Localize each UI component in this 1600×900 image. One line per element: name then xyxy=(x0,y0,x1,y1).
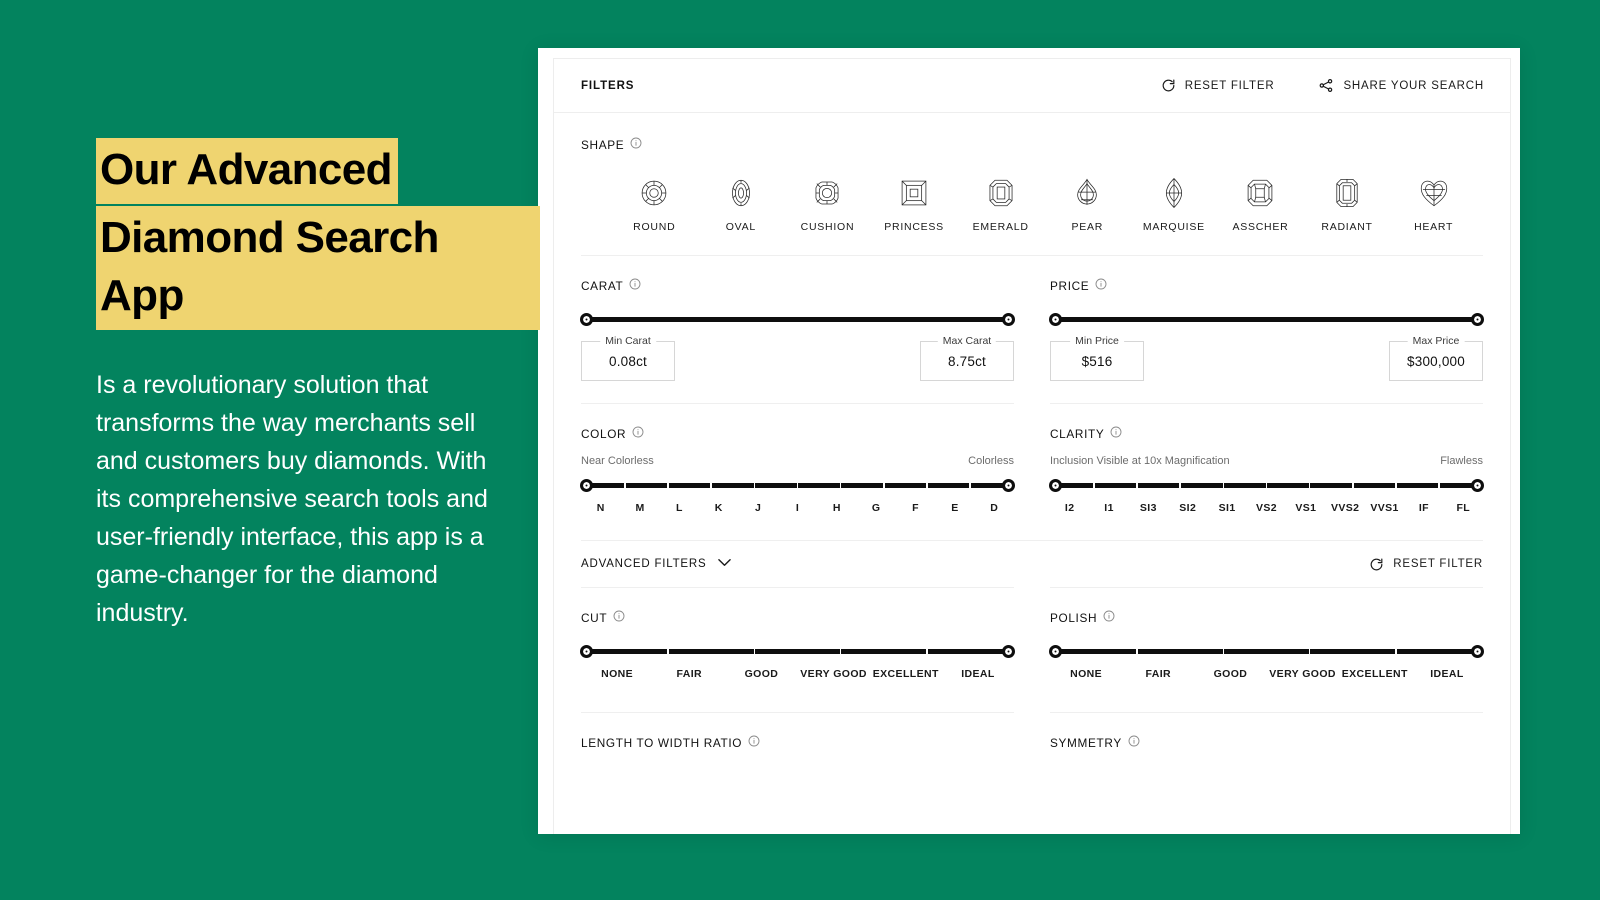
color-range-slider[interactable] xyxy=(581,479,1014,491)
min-price-label: Min Price xyxy=(1070,335,1124,347)
marketing-panel: Our Advanced Diamond Search App Is a rev… xyxy=(0,0,540,900)
shape-option-label: EMERALD xyxy=(973,221,1029,233)
ratio-symmetry-grid: LENGTH TO WIDTH RATIO SYMMETRY xyxy=(554,713,1510,750)
shape-option-label: ASSCHER xyxy=(1232,221,1288,233)
min-price-value: $516 xyxy=(1082,354,1113,369)
clarity-scale-item: I2 xyxy=(1050,502,1089,514)
clarity-slider-thumb-max[interactable] xyxy=(1471,479,1484,492)
radiant-diamond-icon xyxy=(1330,176,1364,210)
max-carat-value: 8.75ct xyxy=(948,354,986,369)
shape-option-label: MARQUISE xyxy=(1143,221,1205,233)
min-carat-label: Min Carat xyxy=(600,335,656,347)
info-icon[interactable] xyxy=(630,137,642,152)
color-section: COLOR Near Colorless Colorless N M xyxy=(581,404,1014,514)
cut-scale-item: EXCELLENT xyxy=(870,668,942,680)
cut-scale-labels: NONE FAIR GOOD VERY GOOD EXCELLENT IDEAL xyxy=(581,668,1014,680)
shape-option-label: RADIANT xyxy=(1321,221,1372,233)
polish-range-slider[interactable] xyxy=(1050,645,1483,657)
heart-diamond-icon xyxy=(1417,176,1451,210)
advanced-filters-toggle[interactable]: ADVANCED FILTERS xyxy=(581,558,731,570)
shape-option-oval[interactable]: OVAL xyxy=(698,176,785,233)
shape-option-cushion[interactable]: CUSHION xyxy=(784,176,871,233)
asscher-diamond-icon xyxy=(1243,176,1277,210)
symmetry-label-text: SYMMETRY xyxy=(1050,736,1122,750)
info-icon[interactable] xyxy=(632,426,644,441)
slider-track xyxy=(581,483,1014,488)
polish-slider-thumb-max[interactable] xyxy=(1471,645,1484,658)
color-slider-thumb-min[interactable] xyxy=(580,479,593,492)
max-price-value: $300,000 xyxy=(1407,354,1465,369)
info-icon[interactable] xyxy=(1128,735,1140,750)
clarity-scale-item: VS2 xyxy=(1247,502,1286,514)
color-scale-item: I xyxy=(778,502,817,514)
info-icon[interactable] xyxy=(629,278,641,293)
clarity-scale-item: VVS1 xyxy=(1365,502,1404,514)
filters-panel: FILTERS RESET FILTER xyxy=(553,58,1511,834)
headline-highlight-1: Our Advanced xyxy=(96,138,398,204)
header-actions: RESET FILTER SHARE YOUR SEARCH xyxy=(1161,78,1484,93)
page-title: Our Advanced Diamond Search App xyxy=(96,138,540,330)
color-scale-item: D xyxy=(975,502,1014,514)
share-search-button[interactable]: SHARE YOUR SEARCH xyxy=(1318,78,1484,93)
shape-option-asscher[interactable]: ASSCHER xyxy=(1217,176,1304,233)
diamond-search-app-card: FILTERS RESET FILTER xyxy=(538,48,1520,834)
info-icon[interactable] xyxy=(1103,610,1115,625)
color-scale-item: E xyxy=(935,502,974,514)
shape-option-round[interactable]: ROUND xyxy=(611,176,698,233)
price-section: PRICE Min Price $516 Max Price $300,000 xyxy=(1050,256,1483,381)
color-scale-item: F xyxy=(896,502,935,514)
carat-section-label: CARAT xyxy=(581,278,1014,293)
slider-track xyxy=(1050,649,1483,654)
marquise-diamond-icon xyxy=(1157,176,1191,210)
advanced-reset-filter-label: RESET FILTER xyxy=(1393,558,1483,570)
color-right-hint: Colorless xyxy=(968,455,1014,467)
length-to-width-label-text: LENGTH TO WIDTH RATIO xyxy=(581,736,742,750)
headline-line-1: Our Advanced xyxy=(96,138,540,204)
cut-slider-thumb-min[interactable] xyxy=(580,645,593,658)
color-left-hint: Near Colorless xyxy=(581,455,654,467)
info-icon[interactable] xyxy=(613,610,625,625)
price-slider-thumb-min[interactable] xyxy=(1049,313,1062,326)
carat-slider-thumb-max[interactable] xyxy=(1002,313,1015,326)
color-section-label: COLOR xyxy=(581,426,1014,441)
max-carat-field[interactable]: Max Carat 8.75ct xyxy=(920,341,1014,381)
cut-range-slider[interactable] xyxy=(581,645,1014,657)
polish-scale-item: EXCELLENT xyxy=(1339,668,1411,680)
reset-filter-label: RESET FILTER xyxy=(1185,80,1275,92)
advanced-filters-label: ADVANCED FILTERS xyxy=(581,558,706,570)
headline-highlight-2: Diamond Search App xyxy=(96,206,540,330)
color-scale-item: G xyxy=(857,502,896,514)
max-carat-label: Max Carat xyxy=(938,335,996,347)
oval-diamond-icon xyxy=(724,176,758,210)
cut-scale-item: NONE xyxy=(581,668,653,680)
shape-option-label: HEART xyxy=(1414,221,1453,233)
polish-slider-thumb-min[interactable] xyxy=(1049,645,1062,658)
shape-options-row: ROUND OVAL xyxy=(581,176,1483,233)
max-price-field[interactable]: Max Price $300,000 xyxy=(1389,341,1483,381)
info-icon[interactable] xyxy=(748,735,760,750)
slider-track xyxy=(1050,483,1483,488)
price-label-text: PRICE xyxy=(1050,279,1089,293)
clarity-slider-thumb-min[interactable] xyxy=(1049,479,1062,492)
polish-label-text: POLISH xyxy=(1050,611,1097,625)
polish-section: POLISH NONE FAIR GOOD VERY GOOD EXCELLEN… xyxy=(1050,588,1483,680)
length-to-width-label: LENGTH TO WIDTH RATIO xyxy=(581,735,1014,750)
share-icon xyxy=(1318,78,1334,93)
clarity-scale-item: SI1 xyxy=(1207,502,1246,514)
info-icon[interactable] xyxy=(1095,278,1107,293)
clarity-range-slider[interactable] xyxy=(1050,479,1483,491)
color-scale-item: H xyxy=(817,502,856,514)
color-scale-item: K xyxy=(699,502,738,514)
shape-option-princess[interactable]: PRINCESS xyxy=(871,176,958,233)
clarity-scale-item: SI2 xyxy=(1168,502,1207,514)
clarity-scale-item: SI3 xyxy=(1129,502,1168,514)
polish-scale-item: GOOD xyxy=(1194,668,1266,680)
reset-filter-button[interactable]: RESET FILTER xyxy=(1161,78,1275,93)
clarity-scale-item: VVS2 xyxy=(1326,502,1365,514)
clarity-scale-item: IF xyxy=(1404,502,1443,514)
share-search-label: SHARE YOUR SEARCH xyxy=(1343,80,1484,92)
price-minmax-row: Min Price $516 Max Price $300,000 xyxy=(1050,341,1483,381)
chevron-down-icon xyxy=(718,558,731,570)
polish-section-label: POLISH xyxy=(1050,610,1483,625)
carat-minmax-row: Min Carat 0.08ct Max Carat 8.75ct xyxy=(581,341,1014,381)
max-price-label: Max Price xyxy=(1408,335,1465,347)
carat-slider-thumb-min[interactable] xyxy=(580,313,593,326)
polish-scale-item: VERY GOOD xyxy=(1267,668,1339,680)
color-slider-thumb-max[interactable] xyxy=(1002,479,1015,492)
symmetry-section: SYMMETRY xyxy=(1050,735,1483,750)
shape-label-text: SHAPE xyxy=(581,138,624,152)
min-carat-field[interactable]: Min Carat 0.08ct xyxy=(581,341,675,381)
advanced-filters-bar: ADVANCED FILTERS RESET FILTER xyxy=(554,541,1510,587)
filters-header: FILTERS RESET FILTER xyxy=(554,59,1510,113)
shape-option-label: PEAR xyxy=(1071,221,1103,233)
shape-option-label: ROUND xyxy=(633,221,675,233)
cut-polish-grid: CUT NONE FAIR GOOD VERY GOOD EXCELLENT xyxy=(554,588,1510,680)
clarity-scale-item: VS1 xyxy=(1286,502,1325,514)
divider-right xyxy=(1050,712,1483,713)
carat-range-slider[interactable] xyxy=(581,313,1014,325)
clarity-section-label: CLARITY xyxy=(1050,426,1483,441)
refresh-icon xyxy=(1369,557,1384,572)
filters-title: FILTERS xyxy=(581,80,634,92)
clarity-label-text: CLARITY xyxy=(1050,427,1104,441)
polish-scale-item: FAIR xyxy=(1122,668,1194,680)
shape-option-heart[interactable]: HEART xyxy=(1390,176,1477,233)
pear-diamond-icon xyxy=(1070,176,1104,210)
marketing-body-text: Is a revolutionary solution that transfo… xyxy=(96,366,496,632)
cut-scale-item: FAIR xyxy=(653,668,725,680)
color-scale-item: L xyxy=(660,502,699,514)
clarity-left-hint: Inclusion Visible at 10x Magnification xyxy=(1050,455,1230,467)
color-scale-labels: N M L K J I H G F E D xyxy=(581,502,1014,514)
color-scale-item: M xyxy=(620,502,659,514)
princess-diamond-icon xyxy=(897,176,931,210)
cut-section-label: CUT xyxy=(581,610,1014,625)
clarity-scale-labels: I2 I1 SI3 SI2 SI1 VS2 VS1 VVS2 VVS1 IF F… xyxy=(1050,502,1483,514)
shape-option-label: CUSHION xyxy=(801,221,855,233)
length-to-width-section: LENGTH TO WIDTH RATIO xyxy=(581,735,1014,750)
color-hints: Near Colorless Colorless xyxy=(581,455,1014,467)
polish-scale-item: NONE xyxy=(1050,668,1122,680)
min-carat-value: 0.08ct xyxy=(609,354,647,369)
headline-line-2: Diamond Search App xyxy=(96,204,540,330)
slider-track xyxy=(581,317,1014,322)
slider-track xyxy=(1050,317,1483,322)
shape-option-marquise[interactable]: MARQUISE xyxy=(1131,176,1218,233)
carat-price-grid: CARAT Min Carat 0.08ct Max Carat 8.75ct xyxy=(554,256,1510,381)
clarity-hints: Inclusion Visible at 10x Magnification F… xyxy=(1050,455,1483,467)
cut-label-text: CUT xyxy=(581,611,607,625)
round-diamond-icon xyxy=(637,176,671,210)
cut-scale-item: GOOD xyxy=(725,668,797,680)
shape-option-pear[interactable]: PEAR xyxy=(1044,176,1131,233)
divider-left xyxy=(581,712,1014,713)
emerald-diamond-icon xyxy=(984,176,1018,210)
min-price-field[interactable]: Min Price $516 xyxy=(1050,341,1144,381)
info-icon[interactable] xyxy=(1110,426,1122,441)
shape-section-label: SHAPE xyxy=(581,137,1483,152)
clarity-section: CLARITY Inclusion Visible at 10x Magnifi… xyxy=(1050,404,1483,514)
price-range-slider[interactable] xyxy=(1050,313,1483,325)
polish-scale-item: IDEAL xyxy=(1411,668,1483,680)
symmetry-label: SYMMETRY xyxy=(1050,735,1483,750)
cut-slider-thumb-max[interactable] xyxy=(1002,645,1015,658)
clarity-right-hint: Flawless xyxy=(1440,455,1483,467)
slider-track xyxy=(581,649,1014,654)
cut-scale-item: VERY GOOD xyxy=(798,668,870,680)
color-scale-item: N xyxy=(581,502,620,514)
shape-option-label: OVAL xyxy=(726,221,756,233)
carat-label-text: CARAT xyxy=(581,279,623,293)
advanced-reset-filter-button[interactable]: RESET FILTER xyxy=(1369,557,1483,572)
carat-section: CARAT Min Carat 0.08ct Max Carat 8.75ct xyxy=(581,256,1014,381)
polish-scale-labels: NONE FAIR GOOD VERY GOOD EXCELLENT IDEAL xyxy=(1050,668,1483,680)
refresh-icon xyxy=(1161,78,1176,93)
clarity-scale-item: FL xyxy=(1444,502,1483,514)
color-label-text: COLOR xyxy=(581,427,626,441)
color-clarity-grid: COLOR Near Colorless Colorless N M xyxy=(554,404,1510,514)
clarity-scale-item: I1 xyxy=(1089,502,1128,514)
price-section-label: PRICE xyxy=(1050,278,1483,293)
price-slider-thumb-max[interactable] xyxy=(1471,313,1484,326)
cut-section: CUT NONE FAIR GOOD VERY GOOD EXCELLENT xyxy=(581,588,1014,680)
shape-option-emerald[interactable]: EMERALD xyxy=(957,176,1044,233)
cushion-diamond-icon xyxy=(810,176,844,210)
shape-section: SHAPE ROUND xyxy=(554,113,1510,233)
shape-option-radiant[interactable]: RADIANT xyxy=(1304,176,1391,233)
color-scale-item: J xyxy=(738,502,777,514)
shape-option-label: PRINCESS xyxy=(884,221,944,233)
cut-scale-item: IDEAL xyxy=(942,668,1014,680)
